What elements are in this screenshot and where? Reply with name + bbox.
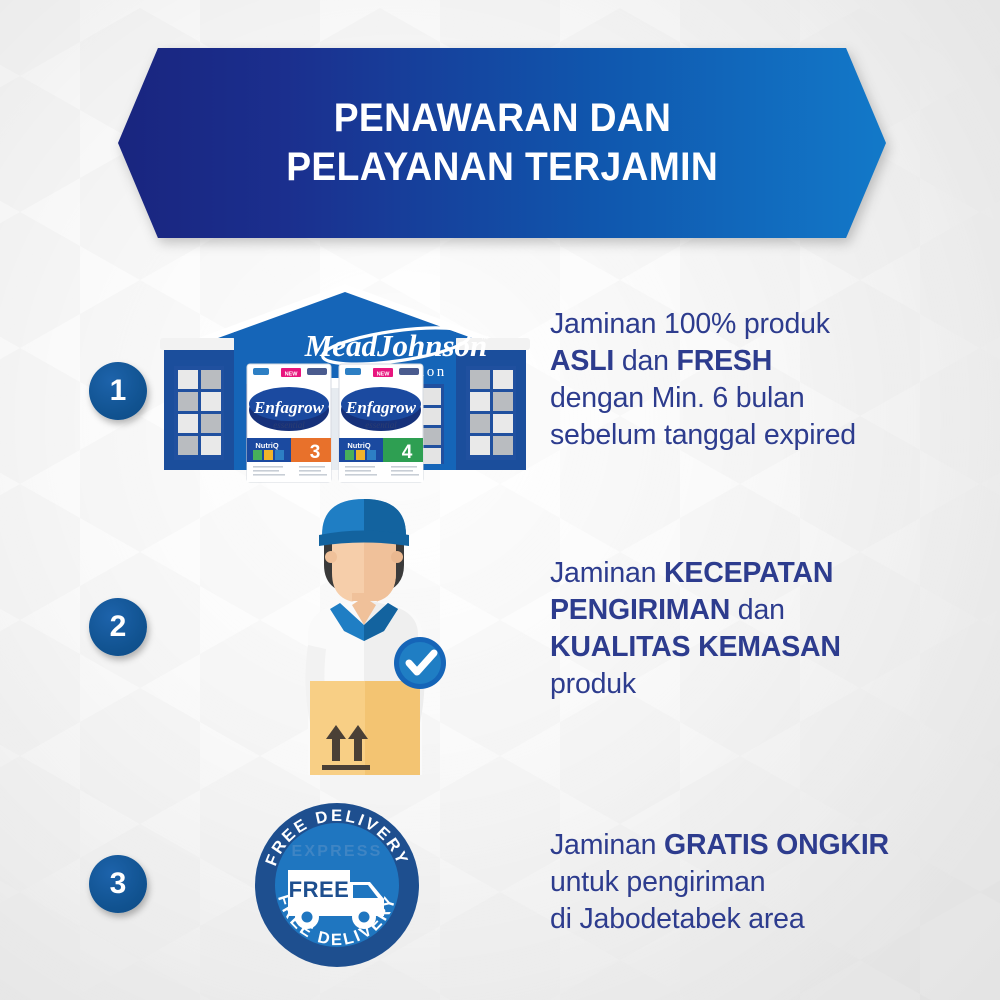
product-pack-group: NEW Enfagrow essential NutriQ 3 — [245, 360, 425, 485]
product-pack-stage-3: NEW Enfagrow essential NutriQ 3 — [247, 364, 331, 482]
benefit-row-1: 1 MeadJohnson ™ Nutrition — [0, 270, 1000, 485]
header-banner: PENAWARAN DAN PELAYANAN TERJAMIN — [118, 48, 886, 238]
product-nutriq-3: NutriQ — [255, 441, 278, 450]
benefit-2-line-1: Jaminan KECEPATAN — [550, 555, 841, 592]
step-number-badge-2: 2 — [89, 598, 147, 656]
verified-check-icon — [394, 637, 446, 689]
benefit-text-3: Jaminan GRATIS ONGKIR untuk pengiriman d… — [550, 827, 889, 938]
benefit-text-1: Jaminan 100% produk ASLI dan FRESH denga… — [550, 306, 856, 454]
product-sub-4: essential — [365, 420, 397, 430]
benefit-text-2: Jaminan KECEPATAN PENGIRIMAN dan KUALITA… — [550, 555, 841, 703]
benefit-row-2: 2 — [0, 485, 1000, 785]
step-number-badge-1: 1 — [89, 362, 147, 420]
banner-title-line-1: PENAWARAN DAN — [333, 96, 671, 141]
product-stage-number-4: 4 — [402, 442, 413, 463]
benefit-2-line-3: KUALITAS KEMASAN — [550, 629, 841, 666]
benefit-1-line-3: dengan Min. 6 bulan — [550, 380, 856, 417]
courier-illustration — [262, 485, 467, 775]
benefit-2-line-4: produk — [550, 666, 841, 703]
product-sub-3: essential — [273, 420, 305, 430]
product-brand-4: Enfagrow — [345, 398, 417, 417]
store-window-right — [466, 366, 516, 460]
store-window-left — [174, 366, 224, 460]
benefit-3-line-3: di Jabodetabek area — [550, 901, 889, 938]
product-brand-3: Enfagrow — [253, 398, 325, 417]
benefit-1-line-1: Jaminan 100% produk — [550, 306, 856, 343]
product-stage-number-3: 3 — [310, 442, 321, 463]
benefit-1-line-4: sebelum tanggal expired — [550, 417, 856, 454]
seal-express-label: EXPRESS — [292, 843, 383, 860]
benefit-row-3: 3 FREE DELIVERY FREE DELIVERY EXPRESS — [0, 785, 1000, 985]
banner-title-line-2: PELAYANAN TERJAMIN — [286, 145, 718, 190]
seal-truck-free-label: FREE — [289, 877, 350, 902]
infographic-poster: PENAWARAN DAN PELAYANAN TERJAMIN 1 M — [0, 0, 1000, 1000]
product-new-badge-4: NEW — [377, 372, 391, 378]
trademark-icon: ™ — [480, 334, 489, 344]
step-number-badge-3: 3 — [89, 855, 147, 913]
benefit-3-line-1: Jaminan GRATIS ONGKIR — [550, 827, 889, 864]
product-nutriq-4: NutriQ — [347, 441, 370, 450]
product-new-badge-3: NEW — [285, 372, 299, 378]
benefit-1-line-2: ASLI dan FRESH — [550, 343, 856, 380]
store-brand-name: MeadJohnson — [304, 328, 488, 363]
free-delivery-seal: FREE DELIVERY FREE DELIVERY EXPRESS F — [252, 800, 422, 970]
product-pack-stage-4: NEW Enfagrow essential NutriQ 4 — [339, 364, 423, 482]
benefit-3-line-2: untuk pengiriman — [550, 864, 889, 901]
benefit-2-line-2: PENGIRIMAN dan — [550, 592, 841, 629]
